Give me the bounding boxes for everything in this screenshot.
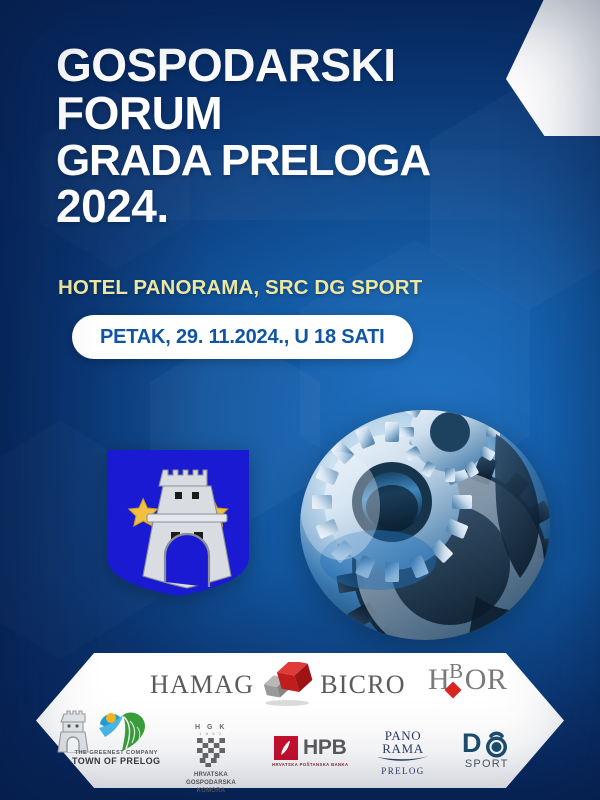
hgk-sub-line-3: KOMORA bbox=[197, 787, 226, 795]
hgk-sub-line-1: HRVATSKA bbox=[194, 771, 228, 779]
prelog-leaf-sun-icon bbox=[93, 708, 151, 752]
logo-panorama-prelog: PANO RAMA PRELOG bbox=[375, 729, 431, 776]
logo-hpb: HPB HRVATSKA POŠTANSKA BANKA bbox=[272, 736, 348, 767]
venue-text: HOTEL PANORAMA, SRC DG SPORT bbox=[58, 276, 422, 300]
hgk-year: 1 8 5 2 bbox=[199, 731, 222, 736]
logo-dg-sport: D SPORT bbox=[462, 727, 512, 770]
panorama-swoosh-icon bbox=[375, 755, 431, 763]
hpb-mark-icon bbox=[274, 736, 298, 760]
event-poster: GOSPODARSKI FORUM GRADA PRELOGA 2024. HO… bbox=[0, 0, 600, 800]
logo-hamag-bicro: HAMAG BICRO bbox=[150, 662, 406, 708]
prelog-tower-icon bbox=[56, 706, 90, 754]
logo-hbor: HBOR bbox=[428, 663, 507, 697]
hbor-letter-b: B bbox=[449, 659, 464, 683]
panorama-line-3: PRELOG bbox=[381, 767, 424, 776]
dg-sport-label: SPORT bbox=[465, 758, 509, 770]
hgk-sub-line-2: GOSPODARSKA bbox=[186, 779, 236, 787]
bicro-word-post: RO bbox=[367, 670, 406, 700]
bicro-word-accent: C bbox=[349, 670, 368, 700]
bicro-word-pre: BI bbox=[320, 670, 348, 700]
gears-photo bbox=[300, 410, 550, 640]
prelog-name: TOWN OF PRELOG bbox=[72, 756, 160, 766]
hgk-letters: H G K bbox=[195, 724, 227, 731]
hamag-word: HAMAG bbox=[150, 670, 254, 700]
hbor-letters-or: OR bbox=[465, 663, 508, 696]
title-line-4: 2024. bbox=[56, 183, 526, 231]
panorama-line-2: RAMA bbox=[382, 742, 423, 755]
title-line-1: GOSPODARSKI bbox=[56, 42, 526, 90]
hgk-checkerboard-icon bbox=[197, 738, 225, 768]
kettlebell-icon bbox=[480, 727, 512, 759]
date-badge: PETAK, 29. 11.2024., U 18 SATI bbox=[72, 315, 413, 359]
hamag-cubes-icon bbox=[256, 662, 318, 708]
hpb-word: HPB bbox=[303, 736, 346, 760]
title-line-3: GRADA PRELOGA bbox=[56, 138, 526, 184]
prelog-coat-of-arms-icon bbox=[103, 448, 253, 598]
gears-illustration-icon bbox=[300, 410, 550, 640]
hbor-diamond-icon bbox=[444, 681, 462, 699]
page-title: GOSPODARSKI FORUM GRADA PRELOGA 2024. bbox=[56, 42, 526, 231]
logo-hgk: H G K 1 8 5 2 HRVATSKA GOSPODARSKA KOMOR… bbox=[186, 724, 236, 795]
title-line-2: FORUM bbox=[56, 90, 526, 138]
hpb-subtitle: HRVATSKA POŠTANSKA BANKA bbox=[272, 762, 348, 767]
date-badge-label: PETAK, 29. 11.2024., U 18 SATI bbox=[100, 326, 385, 349]
logo-town-of-prelog: THE GREENEST COMPANY TOWN OF PRELOG bbox=[46, 706, 160, 766]
